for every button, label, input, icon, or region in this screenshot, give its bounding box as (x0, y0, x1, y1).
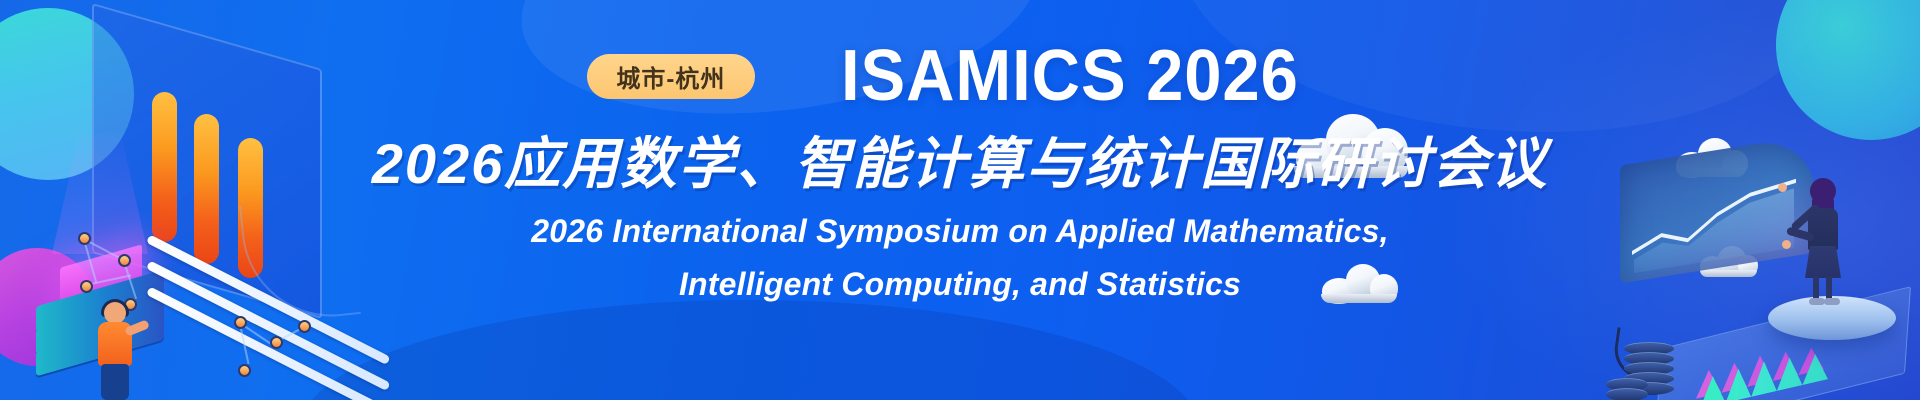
network-graph-group-2 (226, 312, 336, 400)
conference-banner: 城市-杭州 ISAMICS 2026 2026应用数学、智能计算与统计国际研讨会… (0, 0, 1920, 400)
presenter-shoe-left (1809, 298, 1825, 305)
person-left-legs (101, 364, 129, 400)
background-wave-bottom (300, 300, 1200, 400)
presenter-skirt (1805, 246, 1841, 278)
curved-display-screen (1620, 135, 1815, 284)
illustration-left-data-dashboard (30, 20, 360, 400)
cloud-icon-large (1290, 112, 1410, 178)
network-node-3 (80, 280, 93, 293)
presenter-head (1812, 184, 1832, 204)
coin-7 (1606, 388, 1648, 400)
network-node-5 (234, 316, 247, 329)
presenter-torso (1808, 208, 1838, 250)
network-node-2 (118, 254, 131, 267)
city-badge[interactable]: 城市-杭州 (587, 54, 755, 99)
illustration-right-presenter (1600, 120, 1920, 400)
stacked-coins-group (1606, 338, 1678, 400)
decor-curve-line (239, 195, 361, 326)
network-node-8 (298, 320, 311, 333)
cloud-icon-small (1320, 262, 1398, 302)
person-left-head (104, 302, 126, 324)
person-figure-presenter (1796, 178, 1858, 306)
network-node-7 (238, 364, 251, 377)
network-node-1 (78, 232, 91, 245)
bar-chart-bar-1 (152, 92, 177, 242)
bar-chart-bar-2 (194, 114, 219, 264)
network-node-6 (270, 336, 283, 349)
presenter-hand-raised (1778, 183, 1787, 192)
screen-area-fill (1634, 186, 1794, 273)
presenter-hand-lowered (1782, 240, 1791, 249)
presenter-shoe-right (1824, 298, 1840, 305)
person-figure-left (90, 302, 142, 400)
